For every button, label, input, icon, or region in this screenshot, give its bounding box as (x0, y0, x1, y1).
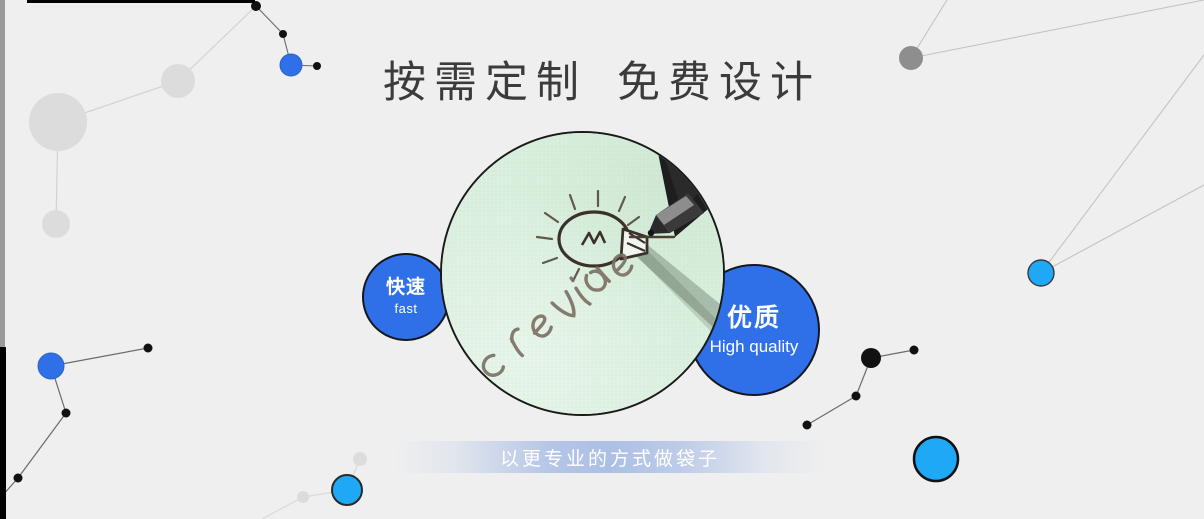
decor-node-black (803, 421, 812, 430)
decor-node-black (279, 30, 287, 38)
decor-node-black (62, 409, 71, 418)
page-title: 按需定制免费设计 (0, 48, 1204, 110)
tagline-text: 以更专业的方式做袋子 (500, 444, 720, 471)
decor-node-gray (297, 491, 309, 503)
headline-part-2: 免费设计 (617, 58, 821, 108)
decor-node-black (852, 392, 861, 401)
decor-node-gray (353, 452, 367, 466)
decor-node-black (861, 348, 881, 368)
top-black-edge-bar (27, 0, 255, 3)
decor-node-black (144, 344, 153, 353)
decor-node-black (910, 346, 919, 355)
feature-fast-en-label: fast (395, 302, 418, 317)
tagline-banner: 以更专业的方式做袋子 (395, 441, 825, 473)
decor-node-cyan (914, 437, 958, 481)
decor-node-cyan (1028, 260, 1054, 286)
decor-node-gray (42, 210, 70, 238)
decor-node-blue (38, 353, 64, 379)
feature-bubble-fast[interactable]: 快速 fast (362, 253, 450, 341)
decor-node-black (14, 474, 23, 483)
feature-fast-cn-label: 快速 (386, 277, 426, 299)
headline-part-1: 按需定制 (383, 58, 587, 108)
feature-quality-cn-label: 优质 (727, 304, 781, 333)
left-black-edge-bar (0, 347, 6, 519)
creative-photo (442, 133, 723, 414)
decor-node-cyan (332, 475, 362, 505)
hero-image-circle (440, 131, 725, 416)
promo-banner-stage: 按需定制免费设计 快速 fast 优质 High quality (0, 0, 1204, 519)
